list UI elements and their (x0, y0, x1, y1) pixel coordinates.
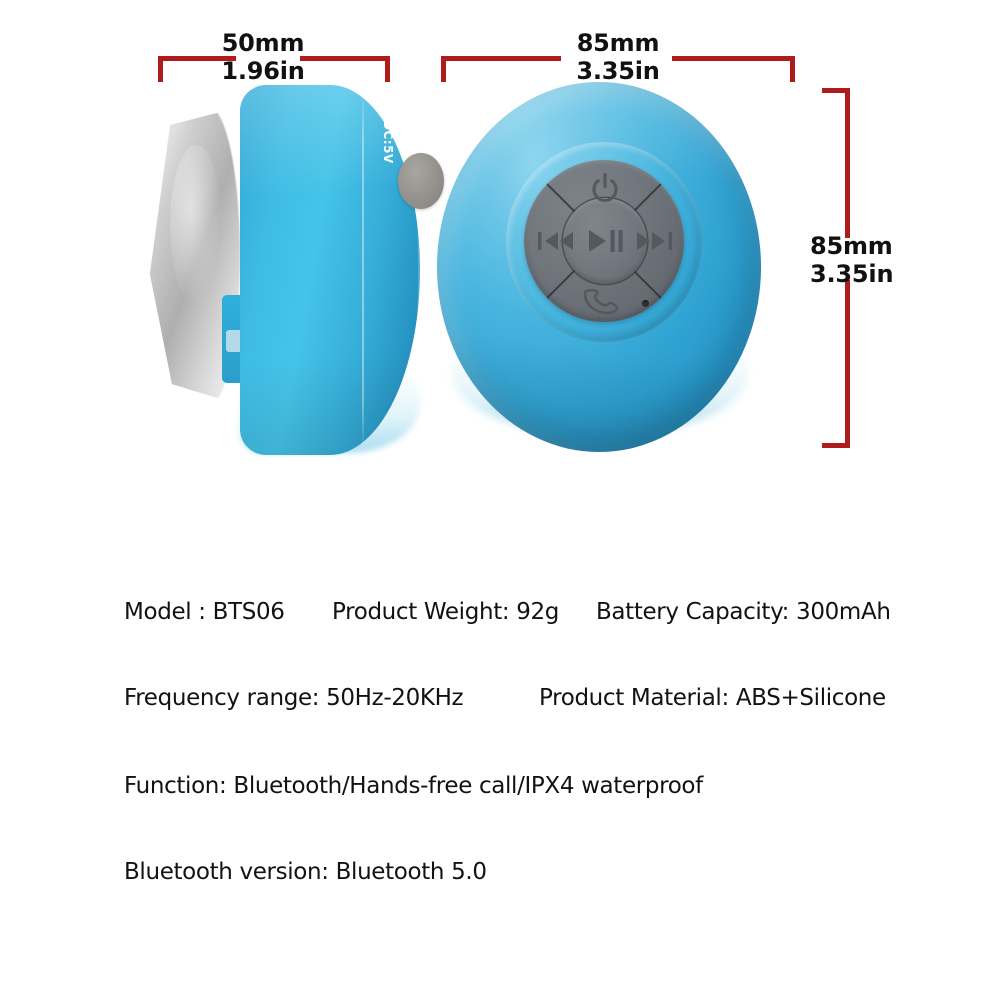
microphone-icon (642, 300, 649, 307)
specification-list: Model : BTS06 Product Weight: 92g Batter… (0, 560, 1000, 1000)
height-dimension-mm: 85mm (810, 232, 920, 260)
width-dimension-label: 85mm 3.35in (563, 29, 673, 85)
speaker-side-view: DC:5V (140, 85, 440, 465)
spec-bluetooth-version: Bluetooth version: Bluetooth 5.0 (124, 856, 487, 888)
product-photo-area: 50mm 1.96in 85mm 3.35in 85mm 3.35in DC:5… (0, 0, 1000, 560)
spec-battery-capacity: Battery Capacity: 300mAh (596, 596, 891, 628)
width-dimension-mm: 85mm (563, 29, 673, 57)
spec-row: Function: Bluetooth/Hands-free call/IPX4… (124, 770, 944, 804)
spec-frequency-range: Frequency range: 50Hz-20KHz (124, 682, 463, 714)
suction-cup-highlight (170, 145, 222, 305)
depth-dimension-mm: 50mm (213, 29, 313, 57)
speaker-body-seam (362, 89, 364, 451)
product-spec-page: 50mm 1.96in 85mm 3.35in 85mm 3.35in DC:5… (0, 0, 1000, 1000)
spec-product-material: Product Material: ABS+Silicone (539, 682, 886, 714)
depth-dimension-bracket-right (300, 56, 390, 82)
play-pause-button[interactable] (563, 198, 647, 284)
height-dimension-label: 85mm 3.35in (810, 232, 920, 288)
speaker-front-view (430, 78, 780, 478)
height-dimension-in: 3.35in (810, 260, 920, 288)
spec-row: Bluetooth version: Bluetooth 5.0 (124, 856, 944, 890)
spec-product-weight: Product Weight: 92g (332, 596, 559, 628)
depth-dimension-label: 50mm 1.96in (213, 29, 313, 85)
spec-model: Model : BTS06 (124, 596, 285, 628)
depth-dimension-in: 1.96in (213, 57, 313, 85)
spec-function: Function: Bluetooth/Hands-free call/IPX4… (124, 770, 703, 802)
dc-voltage-label: DC:5V (377, 120, 395, 190)
height-dimension-bracket-bottom (822, 280, 850, 448)
spec-row: Frequency range: 50Hz-20KHz Product Mate… (124, 682, 944, 716)
spec-row: Model : BTS06 Product Weight: 92g Batter… (124, 596, 944, 630)
height-dimension-bracket-top (822, 88, 850, 238)
